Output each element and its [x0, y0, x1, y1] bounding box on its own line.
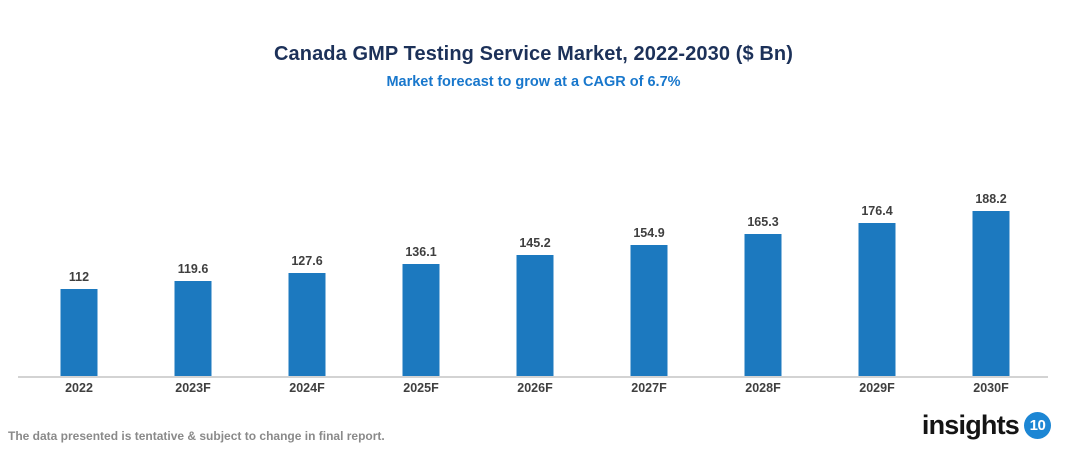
x-axis-tick-label: 2024F — [250, 379, 364, 397]
bar-slot: 119.6 — [136, 110, 250, 378]
bar[interactable] — [175, 281, 212, 378]
bar[interactable] — [61, 289, 98, 378]
x-axis-labels: 20222023F2024F2025F2026F2027F2028F2029F2… — [18, 379, 1048, 401]
x-axis-tick-label: 2029F — [820, 379, 934, 397]
bar[interactable] — [289, 273, 326, 378]
x-axis-tick-label: 2027F — [592, 379, 706, 397]
logo-wordmark: insights — [922, 410, 1019, 440]
x-axis-tick-label: 2026F — [478, 379, 592, 397]
bar[interactable] — [403, 264, 440, 378]
x-axis-tick-label: 2028F — [706, 379, 820, 397]
bar-value-label: 188.2 — [975, 192, 1006, 206]
bar[interactable] — [859, 223, 896, 378]
bar-slot: 136.1 — [364, 110, 478, 378]
plot-area: 112119.6127.6136.1145.2154.9165.3176.418… — [18, 110, 1048, 378]
bar-value-label: 136.1 — [405, 245, 436, 259]
insights10-logo: insights 10 — [922, 408, 1051, 442]
chart-subtitle: Market forecast to grow at a CAGR of 6.7… — [0, 73, 1067, 91]
bar-slot: 188.2 — [934, 110, 1048, 378]
bar-value-label: 165.3 — [747, 215, 778, 229]
bar-value-label: 145.2 — [519, 236, 550, 250]
bar-value-label: 154.9 — [633, 226, 664, 240]
bar[interactable] — [745, 234, 782, 378]
logo-badge-icon: 10 — [1024, 412, 1051, 439]
x-axis-tick-label: 2023F — [136, 379, 250, 397]
bar[interactable] — [631, 245, 668, 378]
bar-slot: 127.6 — [250, 110, 364, 378]
bar-slot: 112 — [22, 110, 136, 378]
disclaimer-text: The data presented is tentative & subjec… — [8, 428, 385, 444]
bar[interactable] — [517, 255, 554, 378]
bar-slot: 165.3 — [706, 110, 820, 378]
bar-value-label: 176.4 — [861, 204, 892, 218]
bar-slot: 145.2 — [478, 110, 592, 378]
title-block: Canada GMP Testing Service Market, 2022-… — [0, 42, 1067, 91]
page-title: Canada GMP Testing Service Market, 2022-… — [0, 42, 1067, 66]
x-axis-line — [18, 376, 1048, 378]
bar-value-label: 127.6 — [291, 254, 322, 268]
bar[interactable] — [973, 211, 1010, 378]
x-axis-tick-label: 2030F — [934, 379, 1048, 397]
bar-slot: 154.9 — [592, 110, 706, 378]
chart-page: Canada GMP Testing Service Market, 2022-… — [0, 0, 1067, 454]
bar-series: 112119.6127.6136.1145.2154.9165.3176.418… — [18, 110, 1048, 378]
x-axis-tick-label: 2022 — [22, 379, 136, 397]
x-axis-tick-label: 2025F — [364, 379, 478, 397]
bar-value-label: 112 — [69, 270, 89, 284]
bar-slot: 176.4 — [820, 110, 934, 378]
bar-value-label: 119.6 — [178, 262, 209, 276]
